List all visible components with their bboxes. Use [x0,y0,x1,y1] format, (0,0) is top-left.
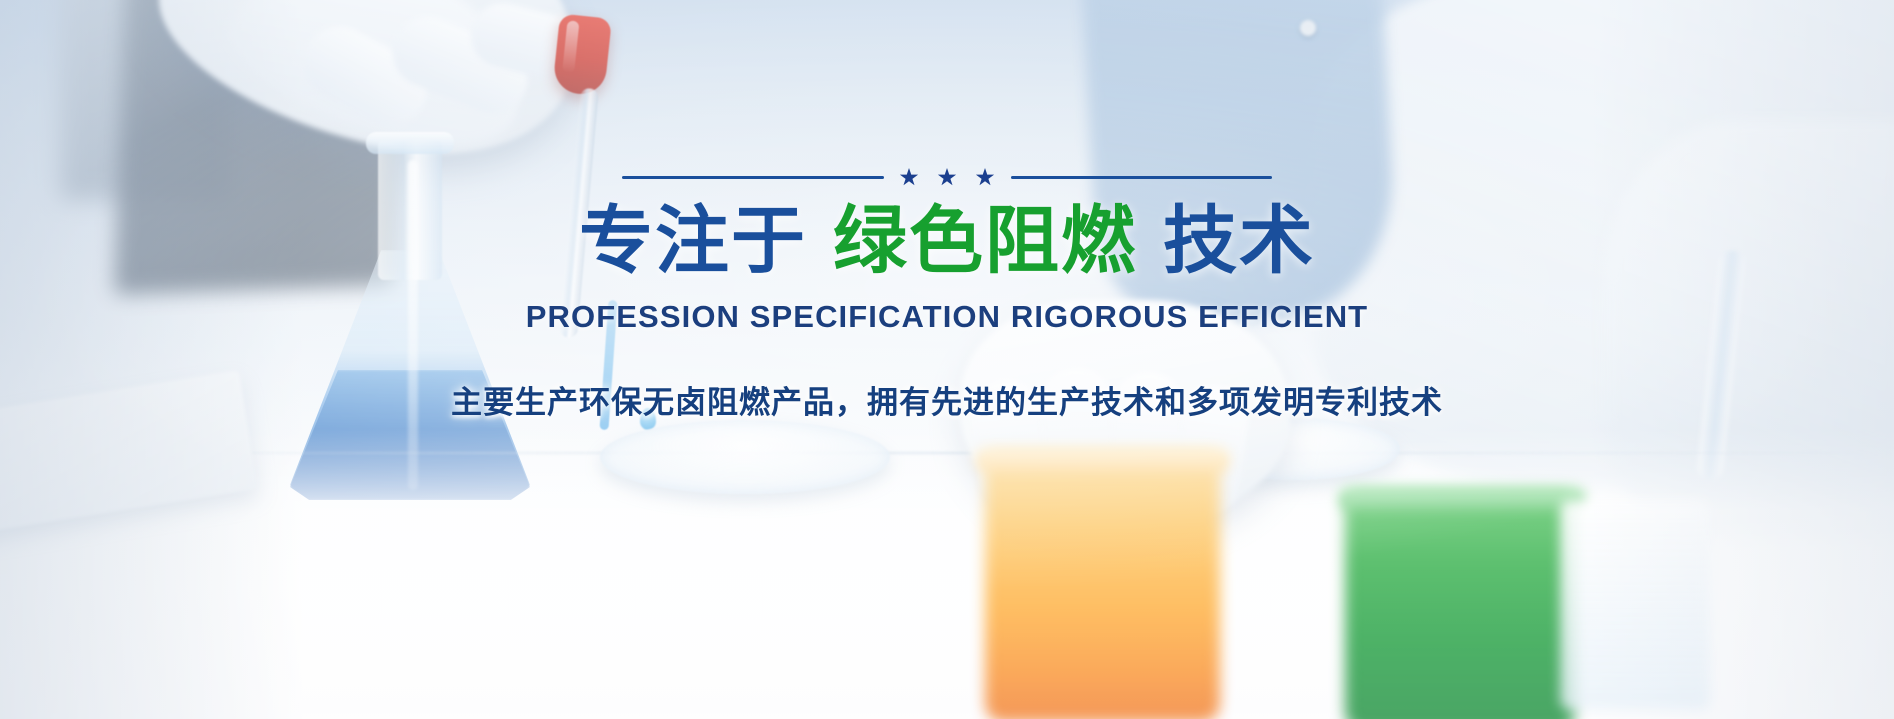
hero-banner: 专注于绿色阻燃技术 PROFESSION SPECIFICATION RIGOR… [0,0,1894,719]
banner-content: 专注于绿色阻燃技术 PROFESSION SPECIFICATION RIGOR… [0,0,1894,719]
headline-part-2: 绿色阻燃 [833,199,1137,282]
banner-tagline-chinese: 主要生产环保无卤阻燃产品，拥有先进的生产技术和多项发明专利技术 [451,377,1443,422]
star-group [900,168,995,187]
star-icon [938,168,957,187]
star-icon [976,168,995,187]
headline-part-3: 技术 [1163,199,1315,282]
decorative-divider [622,168,1272,187]
divider-rule-left [622,176,884,179]
divider-rule-right [1011,176,1273,179]
headline-part-1: 专注于 [579,199,807,282]
banner-subtitle-english: PROFESSION SPECIFICATION RIGOROUS EFFICI… [526,299,1368,335]
star-icon [900,168,919,187]
banner-headline: 专注于绿色阻燃技术 [579,201,1315,281]
